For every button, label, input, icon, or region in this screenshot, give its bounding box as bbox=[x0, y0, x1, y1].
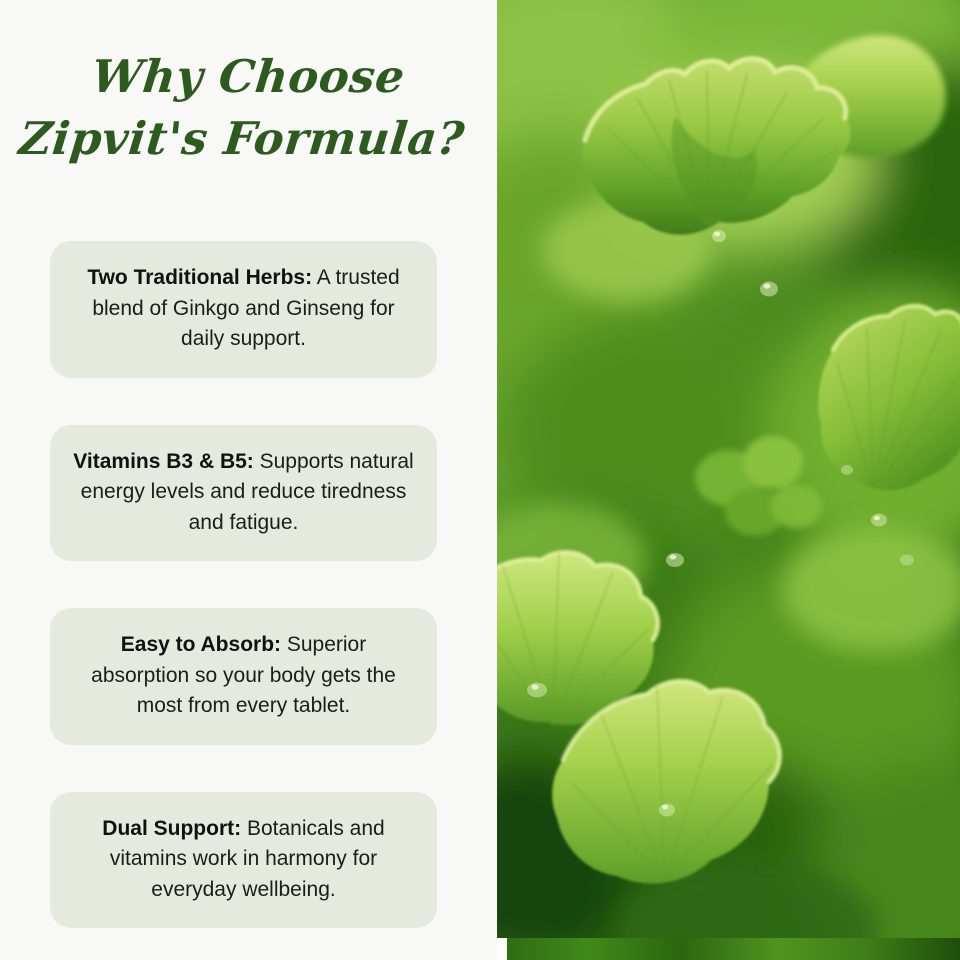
page-title-line-2: Zipvit's Formula? bbox=[0, 108, 490, 170]
benefit-card-list: Two Traditional Herbs: A trusted blend o… bbox=[50, 241, 437, 928]
page-title: Why Choose Zipvit's Formula? bbox=[0, 46, 497, 170]
benefit-card: Vitamins B3 & B5: Supports natural energ… bbox=[50, 425, 437, 562]
photo-bottom-edge bbox=[497, 938, 960, 960]
benefit-card: Easy to Absorb: Superior absorption so y… bbox=[50, 608, 437, 745]
photo-bottom-edge-image bbox=[507, 938, 960, 960]
benefit-card: Two Traditional Herbs: A trusted blend o… bbox=[50, 241, 437, 378]
ginkgo-leaves-photo bbox=[497, 0, 960, 938]
promo-graphic: Why Choose Zipvit's Formula? Two Traditi… bbox=[0, 0, 960, 960]
benefit-card-lead: Easy to Absorb: bbox=[121, 633, 281, 656]
benefit-card: Dual Support: Botanicals and vitamins wo… bbox=[50, 792, 437, 929]
text-panel: Why Choose Zipvit's Formula? Two Traditi… bbox=[0, 0, 497, 960]
benefit-card-lead: Dual Support: bbox=[102, 817, 241, 840]
benefit-card-lead: Two Traditional Herbs: bbox=[87, 266, 312, 289]
page-title-line-1: Why Choose bbox=[0, 46, 497, 108]
benefit-card-lead: Vitamins B3 & B5: bbox=[73, 450, 254, 473]
ginkgo-leaves-illustration bbox=[497, 0, 960, 938]
